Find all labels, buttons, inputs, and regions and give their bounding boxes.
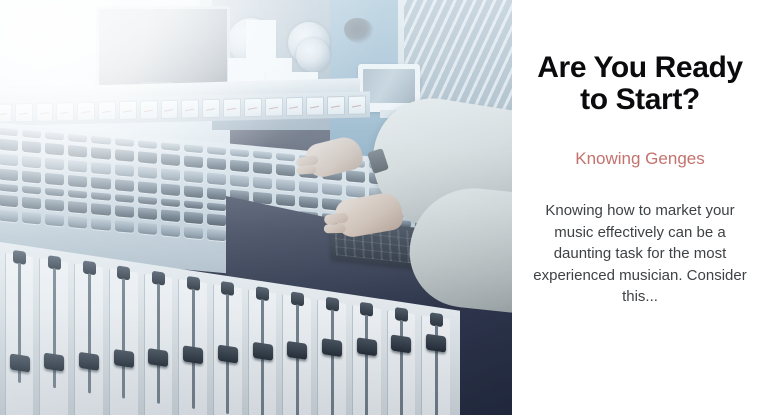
fader-strip [178,279,207,415]
promo-banner: Are You Ready to Start? Knowing Genges K… [0,0,768,415]
vu-meter [140,100,158,119]
fader-strip [352,305,381,415]
vu-meter [244,97,262,116]
vu-meter [306,96,324,115]
vu-meter [15,103,33,122]
fader-strip [109,268,138,415]
lcd-screen [363,69,415,103]
body-paragraph: Knowing how to market your music effecti… [526,170,754,308]
vu-meter [181,99,199,118]
vu-meter [77,101,95,120]
vu-meter [223,98,241,117]
vu-meter [56,102,74,121]
fader-strip [387,310,416,415]
vu-meter [327,95,345,114]
photo-scene [0,0,512,415]
fader-strip [317,299,346,415]
promo-text-panel: Are You Ready to Start? Knowing Genges K… [512,0,768,415]
page-title: Are You Ready to Start? [526,0,754,116]
vu-meter [202,98,220,117]
fader-strip [248,289,277,415]
fader-strip [39,258,68,415]
vu-meter [265,97,283,116]
vu-meter [98,101,116,120]
fader-strip [74,263,103,415]
vu-meter [0,103,12,122]
studio-speaker-icon [296,38,330,72]
fader-strip [144,273,173,415]
vu-meter [348,95,366,114]
vu-meter [36,102,54,121]
fader-strip [213,284,242,415]
vu-meter [286,96,304,115]
fader-strip [282,294,311,415]
fader-strip [5,253,34,415]
subtitle: Knowing Genges [526,116,754,170]
crt-monitor [96,6,230,88]
vu-meter [161,99,179,118]
paper-prop [8,74,94,86]
fader-strip [421,315,450,415]
vu-meter [119,100,137,119]
studio-photo [0,0,512,415]
